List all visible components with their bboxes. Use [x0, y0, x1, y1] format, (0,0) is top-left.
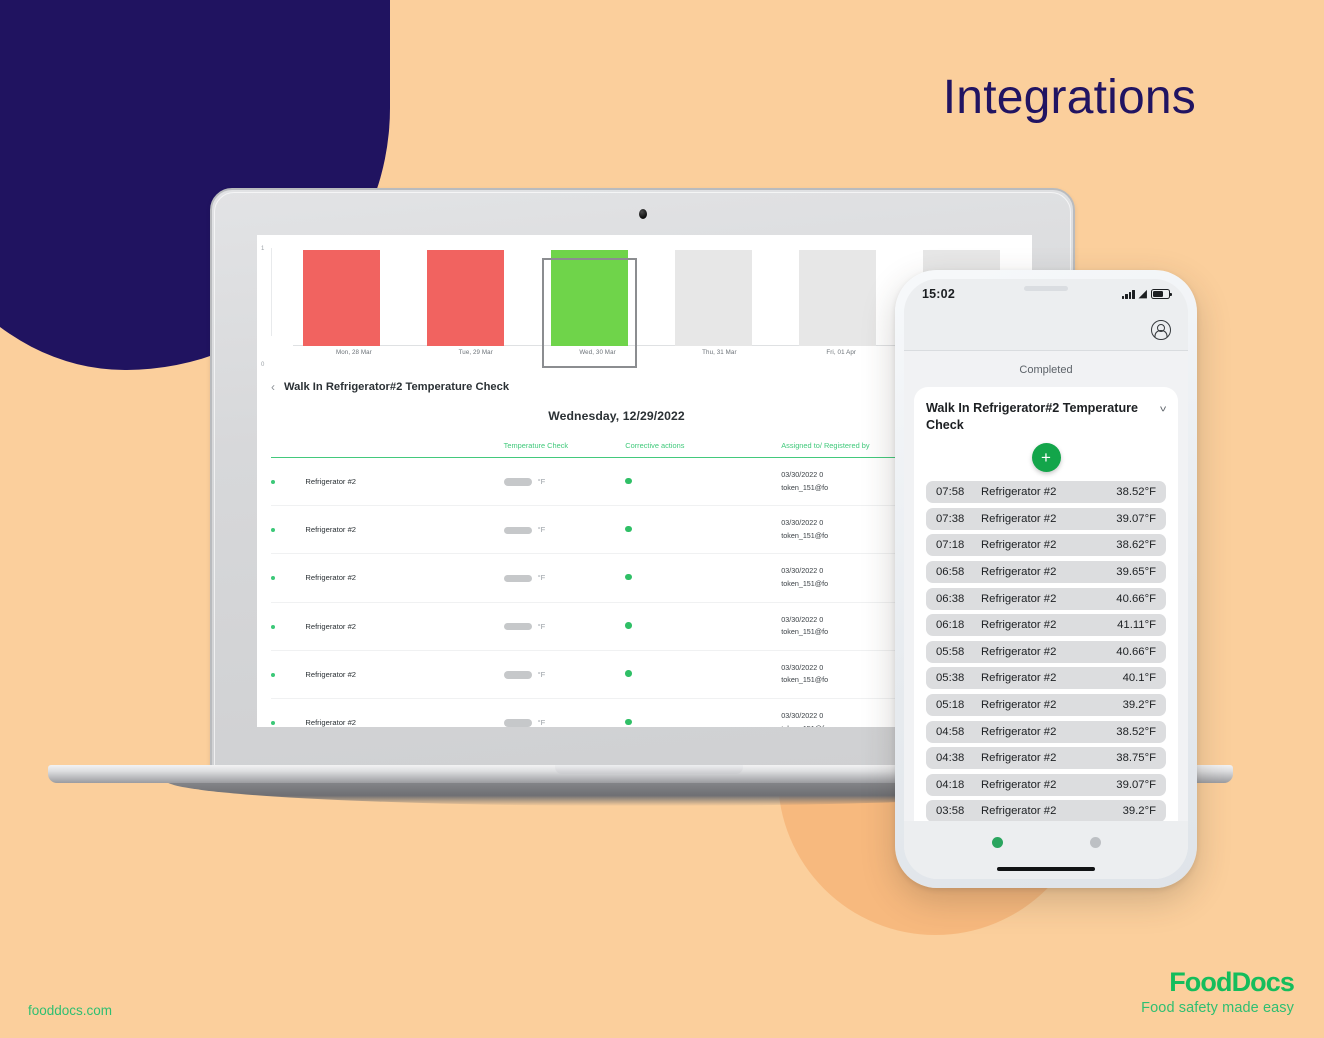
- site-url[interactable]: fooddocs.com: [28, 1003, 112, 1018]
- phone-speaker-notch: [1024, 286, 1068, 291]
- reading-row[interactable]: 06:38Refrigerator #240.66°F: [926, 588, 1166, 610]
- brand-tagline: Food safety made easy: [1141, 1000, 1294, 1016]
- redacted-value: [504, 623, 532, 631]
- chart-x-label-1: Mon, 28 Mar: [293, 349, 415, 356]
- row-name: Refrigerator #2: [305, 602, 503, 650]
- phone-screen: 15:02 ◢ Completed Walk In Refrigerator#2…: [904, 279, 1188, 879]
- assigned-user: token_151@fo: [781, 579, 828, 588]
- reading-temperature: 39.2°F: [1123, 805, 1156, 817]
- reading-time: 06:58: [936, 566, 974, 578]
- row-corrective-action: [625, 506, 781, 554]
- reading-time: 07:38: [936, 513, 974, 525]
- reading-time: 04:18: [936, 779, 974, 791]
- row-status-dot: [271, 457, 305, 505]
- reading-unit-name: Refrigerator #2: [974, 672, 1123, 684]
- plus-icon[interactable]: +: [1032, 443, 1061, 472]
- bar-red: [303, 250, 380, 346]
- col-temperature-check: Temperature Check: [504, 441, 626, 457]
- task-card-header[interactable]: Walk In Refrigerator#2 Temperature Check…: [926, 400, 1166, 433]
- row-status-dot: [271, 602, 305, 650]
- chart-bar-4[interactable]: [652, 250, 776, 346]
- reading-temperature: 40.66°F: [1116, 646, 1156, 658]
- chart-bar-1[interactable]: [279, 250, 403, 346]
- task-title: Walk In Refrigerator#2 Temperature Check: [926, 400, 1152, 433]
- reading-unit-name: Refrigerator #2: [974, 805, 1123, 817]
- status-indicators: ◢: [1122, 289, 1170, 300]
- row-name: Refrigerator #2: [305, 698, 503, 727]
- reading-unit-name: Refrigerator #2: [974, 539, 1116, 551]
- reading-row[interactable]: 04:18Refrigerator #239.07°F: [926, 774, 1166, 796]
- col-name: [305, 441, 503, 457]
- row-temperature: °F: [504, 650, 626, 698]
- row-temperature: °F: [504, 457, 626, 505]
- chart-x-label-5: Fri, 01 Apr: [780, 349, 902, 356]
- reading-temperature: 39.2°F: [1123, 699, 1156, 711]
- row-temperature: °F: [504, 506, 626, 554]
- row-unit: °F: [538, 573, 546, 582]
- chart-y-axis: [271, 248, 272, 336]
- reading-row[interactable]: 05:58Refrigerator #240.66°F: [926, 641, 1166, 663]
- chart-bar-3[interactable]: [527, 250, 651, 346]
- reading-unit-name: Refrigerator #2: [974, 726, 1116, 738]
- brand-block: FoodDocs Food safety made easy: [1141, 968, 1294, 1016]
- nav-dot-inactive[interactable]: [1090, 837, 1101, 848]
- row-status-dot: [271, 554, 305, 602]
- row-temperature: °F: [504, 698, 626, 727]
- row-status-dot: [271, 698, 305, 727]
- battery-icon: [1151, 289, 1170, 299]
- row-corrective-action: [625, 457, 781, 505]
- chart-bar-2[interactable]: [403, 250, 527, 346]
- wifi-icon: ◢: [1139, 289, 1147, 300]
- col-status: [271, 441, 305, 457]
- bar-grey: [799, 250, 876, 346]
- row-corrective-action: [625, 650, 781, 698]
- reading-temperature: 38.52°F: [1116, 726, 1156, 738]
- reading-time: 05:58: [936, 646, 974, 658]
- row-temperature: °F: [504, 602, 626, 650]
- redacted-value: [504, 719, 532, 727]
- reading-temperature: 39.07°F: [1116, 779, 1156, 791]
- row-name: Refrigerator #2: [305, 506, 503, 554]
- reading-row[interactable]: 06:58Refrigerator #239.65°F: [926, 561, 1166, 583]
- chart-x-label-2: Tue, 29 Mar: [415, 349, 537, 356]
- row-name: Refrigerator #2: [305, 554, 503, 602]
- row-corrective-action: [625, 698, 781, 727]
- reading-row[interactable]: 04:58Refrigerator #238.52°F: [926, 721, 1166, 743]
- assigned-date: 03/30/2022 0: [781, 518, 823, 527]
- reading-row[interactable]: 04:38Refrigerator #238.75°F: [926, 747, 1166, 769]
- reading-time: 06:18: [936, 619, 974, 631]
- row-status-dot: [271, 506, 305, 554]
- assigned-date: 03/30/2022 0: [781, 663, 823, 672]
- row-name: Refrigerator #2: [305, 457, 503, 505]
- assigned-user: token_151@fo: [781, 627, 828, 636]
- reading-time: 07:18: [936, 539, 974, 551]
- reading-temperature: 40.66°F: [1116, 593, 1156, 605]
- chart-x-label-4: Thu, 31 Mar: [658, 349, 780, 356]
- assigned-user: token_151@fo: [781, 675, 828, 684]
- row-unit: °F: [538, 477, 546, 486]
- profile-icon[interactable]: [1151, 320, 1171, 340]
- reading-time: 04:38: [936, 752, 974, 764]
- chevron-left-icon[interactable]: ‹: [271, 381, 275, 393]
- phone-mockup: 15:02 ◢ Completed Walk In Refrigerator#2…: [895, 270, 1197, 888]
- laptop-trackpad-notch: [555, 765, 743, 774]
- row-unit: °F: [538, 718, 546, 727]
- row-name: Refrigerator #2: [305, 650, 503, 698]
- reading-temperature: 39.65°F: [1116, 566, 1156, 578]
- add-reading-wrap: +: [926, 443, 1166, 472]
- chart-bar-5[interactable]: [776, 250, 900, 346]
- page-title: Integrations: [943, 70, 1196, 125]
- reading-time: 04:58: [936, 726, 974, 738]
- reading-unit-name: Refrigerator #2: [974, 752, 1116, 764]
- assigned-user: token_151@fo: [781, 483, 828, 492]
- nav-dot-active[interactable]: [992, 837, 1003, 848]
- assigned-date: 03/30/2022 0: [781, 711, 823, 720]
- assigned-user: token_151@fo: [781, 724, 828, 727]
- phone-app-bar: [904, 309, 1188, 351]
- reading-row[interactable]: 07:38Refrigerator #239.07°F: [926, 508, 1166, 530]
- chevron-up-icon[interactable]: ^: [1160, 400, 1166, 420]
- reading-row[interactable]: 05:18Refrigerator #239.2°F: [926, 694, 1166, 716]
- reading-row[interactable]: 05:38Refrigerator #240.1°F: [926, 667, 1166, 689]
- status-time: 15:02: [922, 287, 955, 301]
- assigned-date: 03/30/2022 0: [781, 470, 823, 479]
- bar-red: [427, 250, 504, 346]
- phone-bottom-nav: [904, 821, 1188, 879]
- assigned-user: token_151@fo: [781, 531, 828, 540]
- fooddocs-logo: FoodDocs: [1141, 968, 1294, 996]
- redacted-value: [504, 478, 532, 486]
- reading-time: 07:58: [936, 486, 974, 498]
- reading-unit-name: Refrigerator #2: [974, 566, 1116, 578]
- row-corrective-action: [625, 554, 781, 602]
- reading-temperature: 41.11°F: [1117, 619, 1156, 631]
- row-unit: °F: [538, 670, 546, 679]
- redacted-value: [504, 527, 532, 535]
- chart-x-label-3: Wed, 30 Mar: [537, 349, 659, 356]
- reading-unit-name: Refrigerator #2: [974, 699, 1123, 711]
- reading-temperature: 40.1°F: [1123, 672, 1156, 684]
- reading-time: 03:58: [936, 805, 974, 817]
- bar-grey: [675, 250, 752, 346]
- temperature-readings-list[interactable]: 07:58Refrigerator #238.52°F07:38Refriger…: [926, 481, 1166, 821]
- section-label-completed: Completed: [904, 351, 1188, 387]
- row-unit: °F: [538, 525, 546, 534]
- reading-temperature: 38.52°F: [1116, 486, 1156, 498]
- reading-temperature: 39.07°F: [1116, 513, 1156, 525]
- task-card: Walk In Refrigerator#2 Temperature Check…: [914, 387, 1178, 821]
- assigned-date: 03/30/2022 0: [781, 615, 823, 624]
- detail-title: Walk In Refrigerator#2 Temperature Check: [284, 381, 509, 393]
- reading-row[interactable]: 07:58Refrigerator #238.52°F: [926, 481, 1166, 503]
- phone-status-bar: 15:02 ◢: [904, 279, 1188, 309]
- bar-green: [551, 250, 628, 346]
- redacted-value: [504, 671, 532, 679]
- row-corrective-action: [625, 602, 781, 650]
- reading-unit-name: Refrigerator #2: [974, 513, 1116, 525]
- row-status-dot: [271, 650, 305, 698]
- reading-temperature: 38.62°F: [1116, 539, 1156, 551]
- reading-unit-name: Refrigerator #2: [974, 779, 1116, 791]
- reading-unit-name: Refrigerator #2: [974, 486, 1116, 498]
- reading-time: 06:38: [936, 593, 974, 605]
- reading-time: 05:38: [936, 672, 974, 684]
- reading-temperature: 38.75°F: [1116, 752, 1156, 764]
- chart-ytick-bottom: 0: [261, 362, 264, 368]
- reading-row[interactable]: 03:58Refrigerator #239.2°F: [926, 800, 1166, 821]
- reading-time: 05:18: [936, 699, 974, 711]
- reading-row[interactable]: 07:18Refrigerator #238.62°F: [926, 534, 1166, 556]
- cellular-signal-icon: [1122, 290, 1135, 299]
- row-unit: °F: [538, 622, 546, 631]
- home-indicator: [997, 867, 1095, 871]
- row-temperature: °F: [504, 554, 626, 602]
- reading-unit-name: Refrigerator #2: [974, 593, 1116, 605]
- webcam-icon: [639, 209, 647, 219]
- reading-row[interactable]: 06:18Refrigerator #241.11°F: [926, 614, 1166, 636]
- reading-unit-name: Refrigerator #2: [974, 619, 1117, 631]
- col-corrective-actions: Corrective actions: [625, 441, 781, 457]
- redacted-value: [504, 575, 532, 583]
- reading-unit-name: Refrigerator #2: [974, 646, 1116, 658]
- assigned-date: 03/30/2022 0: [781, 566, 823, 575]
- chart-ytick-top: 1: [261, 246, 264, 252]
